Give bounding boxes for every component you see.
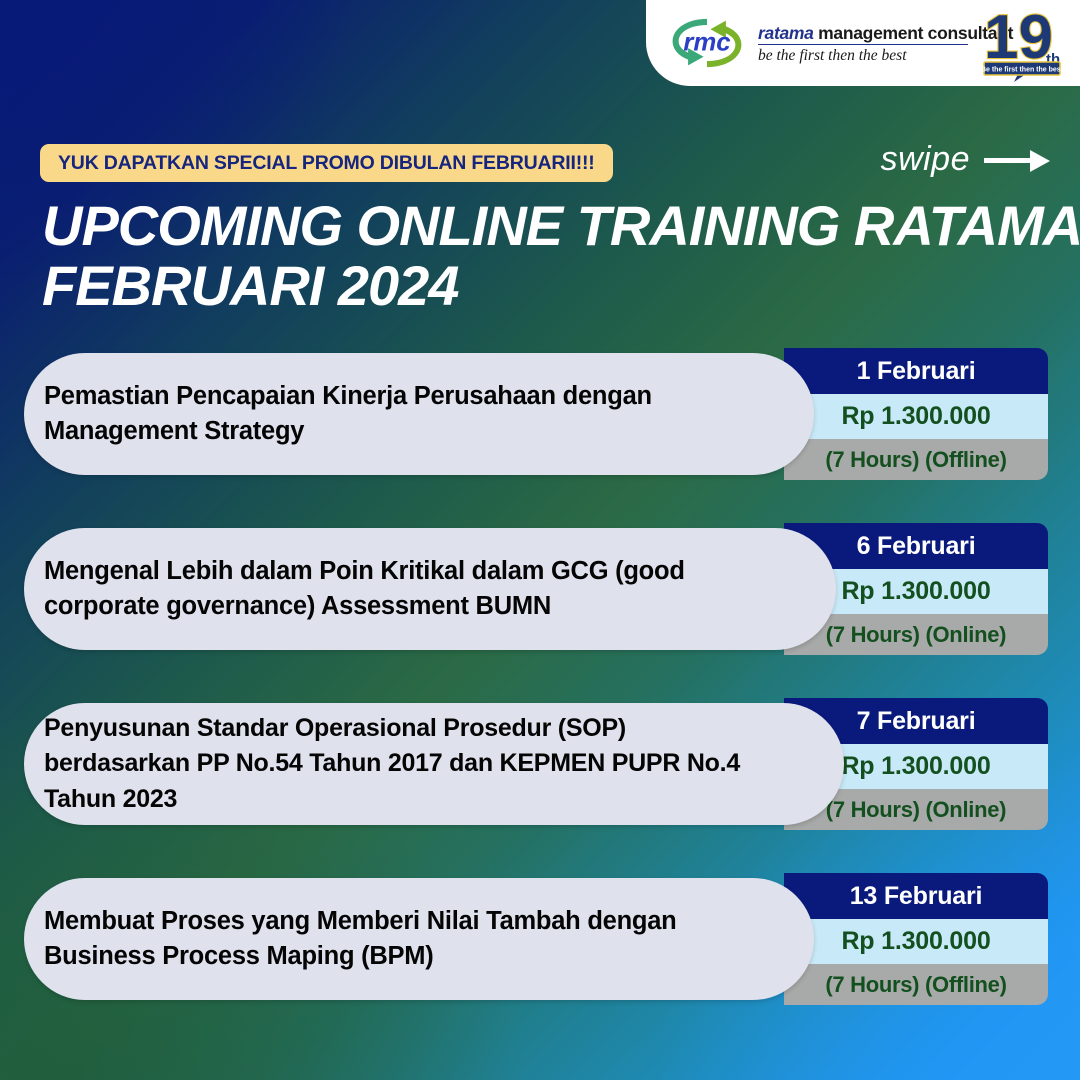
training-price-bar: Rp 1.300.000 [784, 394, 1048, 439]
training-card[interactable]: 7 Februari Rp 1.300.000 (7 Hours) (Onlin… [0, 698, 1080, 830]
training-duration-bar: (7 Hours) (Offline) [784, 439, 1048, 480]
training-title-line1: Membuat Proses yang Memberi Nilai Tambah… [44, 907, 677, 935]
svg-text:rmc: rmc [683, 29, 730, 57]
training-price: Rp 1.300.000 [841, 577, 990, 606]
training-card[interactable]: 1 Februari Rp 1.300.000 (7 Hours) (Offli… [0, 348, 1080, 480]
brand-wordmark: ratama management consultant be the firs… [758, 22, 968, 65]
training-date: 6 Februari [857, 532, 976, 561]
promo-banner-text: YUK DAPATKAN SPECIAL PROMO DIBULAN FEBRU… [58, 152, 595, 175]
training-title-line2: Management Strategy [44, 417, 304, 445]
training-duration: (7 Hours) (Online) [826, 797, 1006, 823]
training-title-pill: Penyusunan Standar Operasional Prosedur … [24, 703, 844, 825]
training-title-pill: Mengenal Lebih dalam Poin Kritikal dalam… [24, 528, 836, 650]
swipe-indicator[interactable]: swipe [881, 140, 1050, 179]
training-duration: (7 Hours) (Offline) [825, 447, 1006, 473]
training-title-line2: berdasarkan PP No.54 Tahun 2017 dan KEPM… [44, 749, 740, 777]
training-date-bar: 13 Februari [784, 873, 1048, 919]
training-title: Pemastian Pencapaian Kinerja Perusahaan … [44, 379, 652, 449]
training-title-line2: corporate governance) Assessment BUMN [44, 592, 551, 620]
training-meta-bars: 1 Februari Rp 1.300.000 (7 Hours) (Offli… [784, 348, 1048, 480]
training-title: Membuat Proses yang Memberi Nilai Tambah… [44, 904, 677, 974]
training-meta-bars: 13 Februari Rp 1.300.000 (7 Hours) (Offl… [784, 873, 1048, 1005]
training-duration-bar: (7 Hours) (Offline) [784, 964, 1048, 1005]
rmc-circular-arrows-logo-icon: rmc [664, 12, 750, 74]
training-date: 7 Februari [857, 707, 976, 736]
training-card[interactable]: 13 Februari Rp 1.300.000 (7 Hours) (Offl… [0, 873, 1080, 1005]
training-title: Penyusunan Standar Operasional Prosedur … [44, 711, 740, 818]
page-title-line1: UPCOMING ONLINE TRAINING RATAMA [42, 196, 1002, 256]
training-title: Mengenal Lebih dalam Poin Kritikal dalam… [44, 554, 685, 624]
page-title-line2: FEBRUARI 2024 [42, 256, 1002, 316]
anniversary-19th-badge-icon: 19 th Be the first then the best [976, 4, 1068, 82]
training-title-line1: Penyusunan Standar Operasional Prosedur … [44, 714, 626, 742]
promo-banner: YUK DAPATKAN SPECIAL PROMO DIBULAN FEBRU… [40, 144, 613, 182]
brand-tagline: be the first then the best [758, 45, 968, 64]
brand-name: ratama management consultant [758, 24, 968, 46]
training-date: 13 Februari [850, 882, 983, 911]
training-price-bar: Rp 1.300.000 [784, 919, 1048, 964]
training-title-line1: Mengenal Lebih dalam Poin Kritikal dalam… [44, 557, 685, 585]
training-price: Rp 1.300.000 [841, 752, 990, 781]
training-title-line2: Business Process Maping (BPM) [44, 942, 434, 970]
training-list: 1 Februari Rp 1.300.000 (7 Hours) (Offli… [0, 348, 1080, 1048]
training-duration: (7 Hours) (Offline) [825, 972, 1006, 998]
swipe-label: swipe [881, 140, 970, 179]
training-card[interactable]: 6 Februari Rp 1.300.000 (7 Hours) (Onlin… [0, 523, 1080, 655]
brand-name-italic: ratama [758, 23, 814, 43]
training-title-line1: Pemastian Pencapaian Kinerja Perusahaan … [44, 382, 652, 410]
brand-header-panel: rmc ratama management consultant be the … [646, 0, 1080, 86]
training-duration: (7 Hours) (Online) [826, 622, 1006, 648]
training-date-bar: 1 Februari [784, 348, 1048, 394]
training-price: Rp 1.300.000 [841, 402, 990, 431]
training-title-line3: Tahun 2023 [44, 785, 177, 813]
arrow-right-icon [984, 147, 1050, 173]
svg-text:Be the first then the best: Be the first then the best [981, 67, 1064, 74]
training-title-pill: Membuat Proses yang Memberi Nilai Tambah… [24, 878, 814, 1000]
training-title-pill: Pemastian Pencapaian Kinerja Perusahaan … [24, 353, 814, 475]
training-date: 1 Februari [857, 357, 976, 386]
training-price: Rp 1.300.000 [841, 927, 990, 956]
page-title: UPCOMING ONLINE TRAINING RATAMA FEBRUARI… [42, 196, 1002, 317]
